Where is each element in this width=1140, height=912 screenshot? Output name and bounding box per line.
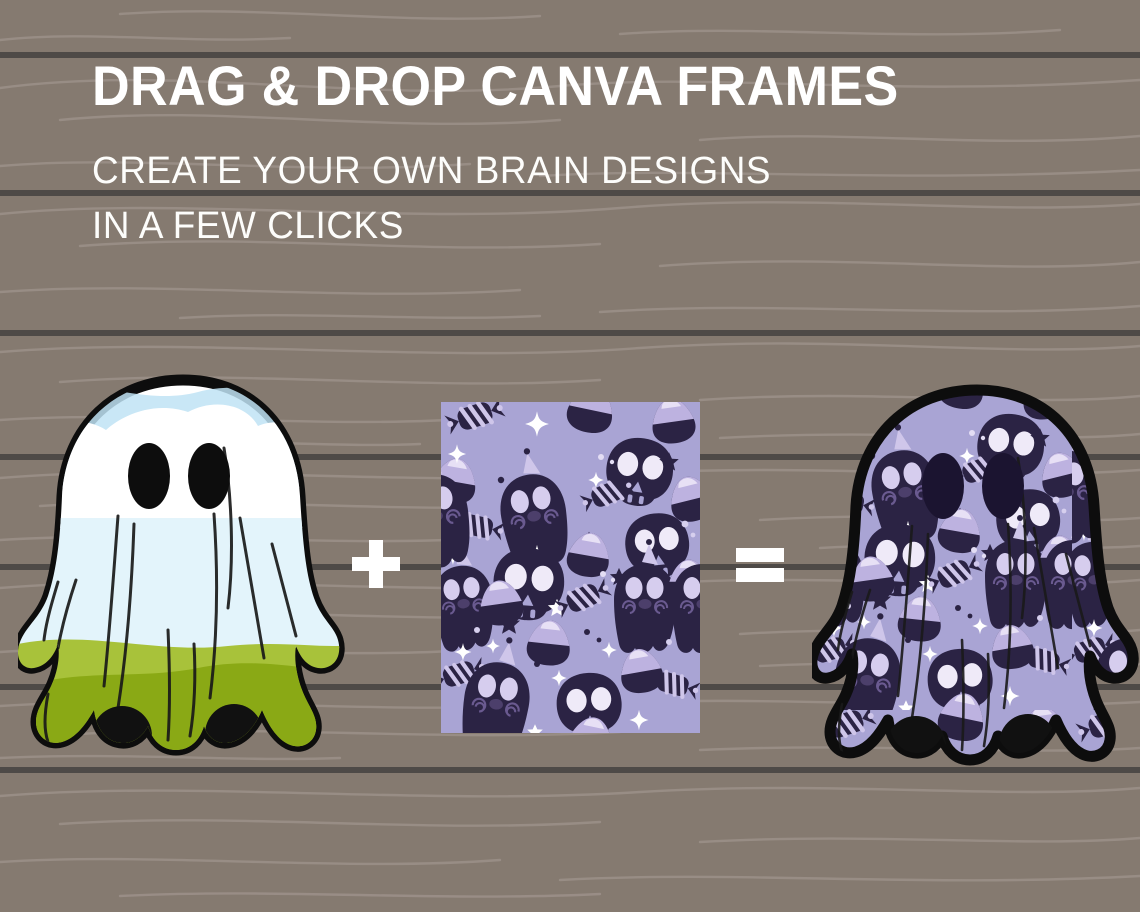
subtitle-line-2: IN A FEW CLICKS bbox=[92, 199, 1023, 254]
heading-block: DRAG & DROP CANVA FRAMES CREATE YOUR OWN… bbox=[92, 58, 1052, 254]
subtitle-line-1: CREATE YOUR OWN BRAIN DESIGNS bbox=[92, 144, 1023, 199]
blank-ghost-sticker[interactable] bbox=[18, 368, 348, 768]
sticker-mockup-canvas: DRAG & DROP CANVA FRAMES CREATE YOUR OWN… bbox=[0, 0, 1140, 912]
equals-icon bbox=[736, 548, 784, 582]
plus-icon bbox=[352, 540, 400, 588]
page-subtitle: CREATE YOUR OWN BRAIN DESIGNS IN A FEW C… bbox=[92, 144, 1052, 254]
halloween-pattern-swatch[interactable] bbox=[441, 402, 700, 733]
page-title: DRAG & DROP CANVA FRAMES bbox=[92, 58, 985, 114]
ghost-color-fills bbox=[18, 383, 348, 768]
patterned-ghost-sticker[interactable] bbox=[812, 378, 1140, 770]
